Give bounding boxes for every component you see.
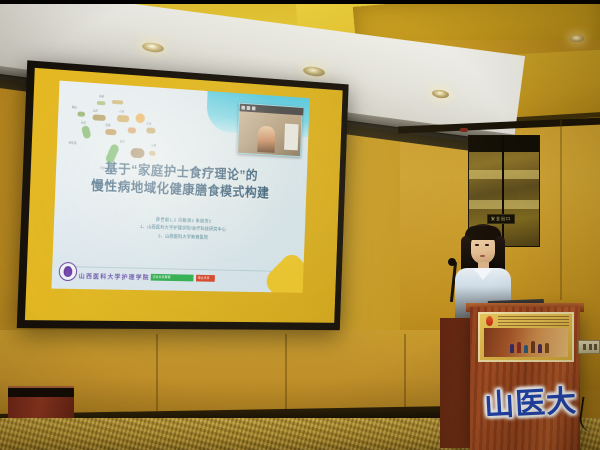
food-icon xyxy=(146,127,155,133)
poster-photo xyxy=(484,328,568,357)
mirror-reflection-band xyxy=(469,170,539,179)
mirror-dark-top xyxy=(469,136,539,152)
figurine xyxy=(545,343,549,353)
map-label: 核桃 xyxy=(105,123,110,127)
poster-figurines xyxy=(510,341,549,353)
food-icon xyxy=(92,114,105,121)
image-top-border xyxy=(0,0,600,4)
wall-seam xyxy=(560,120,562,300)
outlet-slot xyxy=(583,344,586,350)
nursing-school-emblem-icon xyxy=(58,262,77,281)
presenter-eye xyxy=(475,244,479,246)
presenter-mouth xyxy=(480,255,485,257)
window-control-dot xyxy=(241,106,245,110)
venue-watermark: 山医大 xyxy=(483,375,589,424)
figurine xyxy=(510,344,514,353)
food-icon xyxy=(112,100,123,105)
remote-participant-video[interactable] xyxy=(237,103,303,157)
outlet-slot xyxy=(594,344,597,350)
food-icon xyxy=(105,129,116,136)
sharing-status-label: 正在共享屏幕 xyxy=(151,274,194,282)
map-label: 小米 xyxy=(119,109,124,113)
slide-surface: 海参 枸杞 山药 小米 红枣 核桃 苦荞 老陈醋 黄芪 党参 沙棘 基于“家庭护… xyxy=(51,81,309,293)
figurine xyxy=(524,345,528,353)
wall-panel-seam xyxy=(285,334,287,412)
food-icon xyxy=(81,125,92,139)
slide-title-line2: 慢性病地域化健康膳食模式构建 xyxy=(55,176,301,203)
video-person xyxy=(257,126,275,153)
exit-sign: 安全出口 xyxy=(487,214,515,224)
wall-power-outlet xyxy=(578,340,600,354)
podium-side-panel xyxy=(440,318,472,448)
map-label: 老陈醋 xyxy=(69,141,77,145)
window-control-dot xyxy=(247,106,251,110)
mirror-reflection-band xyxy=(469,200,539,209)
food-icon xyxy=(128,127,137,133)
projection-screen: 海参 枸杞 山药 小米 红枣 核桃 苦荞 老陈醋 黄芪 党参 沙棘 基于“家庭护… xyxy=(17,60,349,330)
map-label: 山药 xyxy=(93,108,98,112)
food-icon xyxy=(97,101,106,105)
map-label: 红枣 xyxy=(146,122,151,126)
figurine xyxy=(517,342,521,353)
conference-room-photo: 安全出口 xyxy=(0,0,600,450)
map-label: 沙棘 xyxy=(151,143,156,147)
ceiling-downlight-icon xyxy=(570,35,584,42)
wall-panel-seam xyxy=(404,334,406,412)
figurine xyxy=(538,344,542,353)
food-icon xyxy=(130,148,144,158)
food-icon xyxy=(149,151,156,156)
video-background-panel xyxy=(284,124,299,151)
waste-bin-opening xyxy=(8,386,74,397)
food-icon xyxy=(77,111,85,116)
slide-school-name: 山西医科大学护理学院 xyxy=(79,271,150,281)
sharing-status-badge: 正在共享屏幕 xyxy=(151,274,194,282)
food-icon xyxy=(117,115,129,123)
smoke-detector-icon xyxy=(460,128,468,132)
stop-share-label: 停止共享 xyxy=(196,275,215,282)
video-feed xyxy=(238,111,301,156)
podium-banner-poster xyxy=(478,312,574,362)
flame-icon xyxy=(486,316,493,326)
food-icon xyxy=(135,113,145,123)
outlet-slot xyxy=(589,344,592,350)
presenter-eye xyxy=(485,244,489,246)
exit-sign-label: 安全出口 xyxy=(488,215,514,223)
map-label: 苦荞 xyxy=(81,121,86,125)
map-label: 黄芪 xyxy=(120,139,125,143)
slide-title: 基于“家庭护士食疗理论”的 慢性病地域化健康膳食模式构建 xyxy=(55,158,302,203)
window-control-dot xyxy=(252,106,256,110)
map-label: 海参 xyxy=(99,94,104,98)
poster-text-lines xyxy=(498,316,569,326)
slide-authors-block: 薛世毅1,2 冯敏清2 朱晓芳2 1、山西医科大学护理学院/食疗科技研究中心 2… xyxy=(53,212,305,245)
map-label: 枸杞 xyxy=(72,105,77,109)
figurine xyxy=(531,341,535,353)
screen-share-toolbar[interactable]: 正在共享屏幕 停止共享 xyxy=(151,274,215,282)
wall-panel-seam xyxy=(156,334,158,412)
stop-share-button[interactable]: 停止共享 xyxy=(196,275,215,282)
